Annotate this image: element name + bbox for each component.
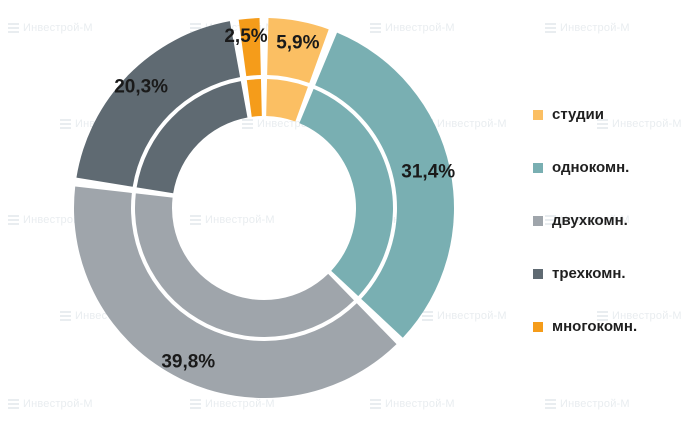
- legend-label: многокомн.: [552, 318, 637, 335]
- legend-label: трехкомн.: [552, 265, 626, 282]
- legend-item-2[interactable]: двухкомн.: [533, 194, 693, 247]
- data-label-2: 39,8%: [161, 351, 215, 372]
- legend-swatch-icon: [533, 110, 543, 120]
- legend-swatch-icon: [533, 269, 543, 279]
- legend-swatch-icon: [533, 322, 543, 332]
- watermark-text: Инвестрой-М: [560, 22, 630, 34]
- legend-label: двухкомн.: [552, 212, 628, 229]
- legend-item-1[interactable]: однокомн.: [533, 141, 693, 194]
- data-label-4: 2,5%: [224, 26, 267, 47]
- slice-outer-2[interactable]: [74, 187, 397, 398]
- chart-legend: студииоднокомн.двухкомн.трехкомн.многоко…: [533, 88, 693, 353]
- legend-label: однокомн.: [552, 159, 629, 176]
- watermark-text: Инвестрой-М: [560, 398, 630, 410]
- watermark: Инвестрой-М: [545, 398, 630, 410]
- legend-label: студии: [552, 106, 604, 123]
- watermark-logo-icon: [545, 23, 556, 34]
- legend-item-0[interactable]: студии: [533, 88, 693, 141]
- inner-ring: [135, 79, 393, 337]
- legend-swatch-icon: [533, 216, 543, 226]
- data-label-3: 20,3%: [114, 77, 168, 98]
- legend-item-3[interactable]: трехкомн.: [533, 247, 693, 300]
- chart-canvas: Инвестрой-МИнвестрой-МИнвестрой-МИнвестр…: [0, 0, 700, 426]
- outer-ring: [74, 18, 454, 398]
- data-label-1: 31,4%: [401, 162, 455, 183]
- data-label-0: 5,9%: [276, 32, 319, 53]
- doughnut-svg: 5,9%31,4%39,8%20,3%2,5%: [0, 0, 510, 426]
- watermark: Инвестрой-М: [545, 22, 630, 34]
- legend-swatch-icon: [533, 163, 543, 173]
- doughnut-chart: 5,9%31,4%39,8%20,3%2,5%: [0, 0, 510, 426]
- legend-item-4[interactable]: многокомн.: [533, 300, 693, 353]
- slice-inner-4[interactable]: [247, 79, 262, 117]
- watermark-logo-icon: [545, 399, 556, 410]
- slice-inner-0[interactable]: [266, 79, 308, 121]
